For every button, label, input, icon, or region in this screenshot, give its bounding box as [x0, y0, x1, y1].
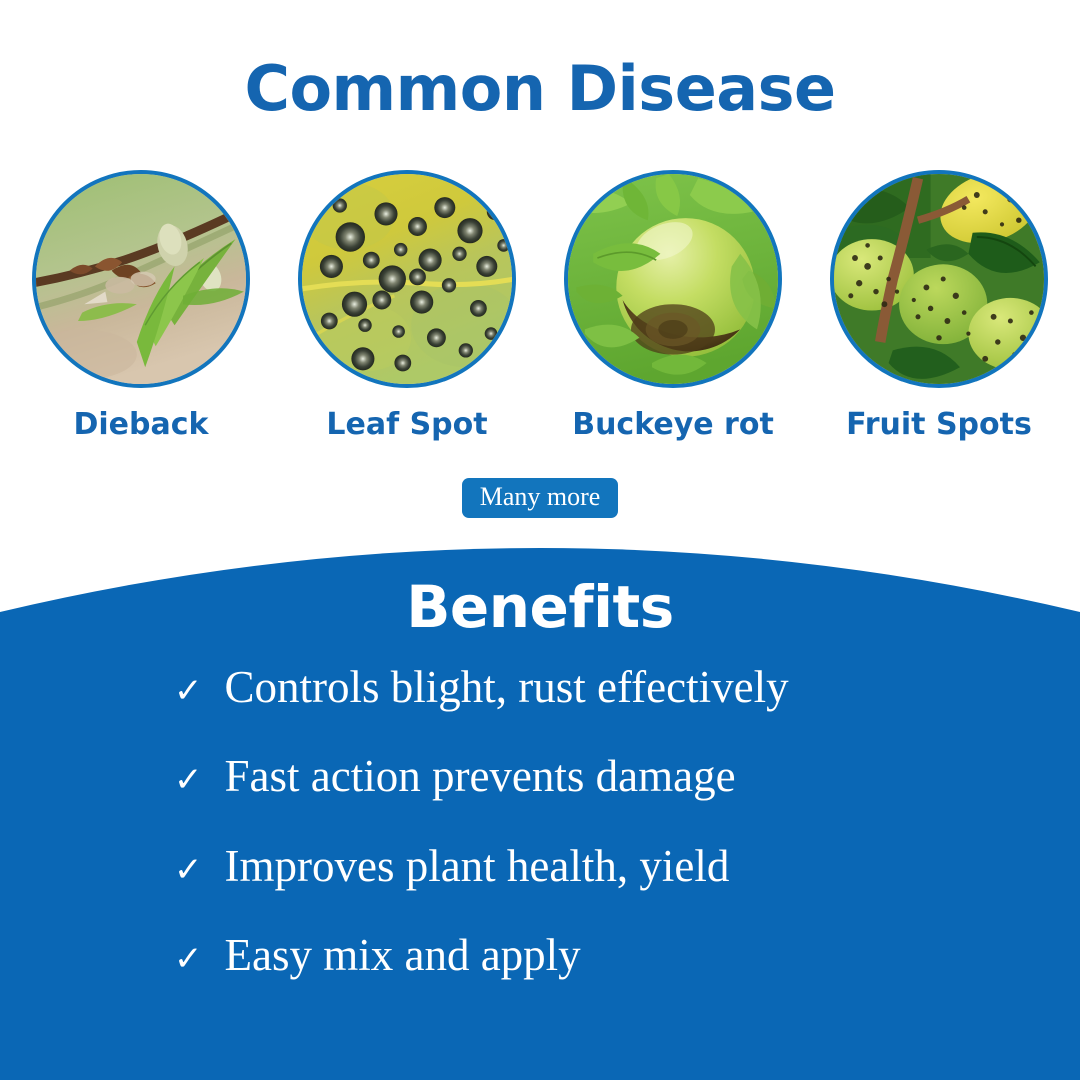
check-icon: ✓ [174, 674, 203, 708]
benefit-text: Fast action prevents damage [225, 751, 736, 801]
page-title: Common Disease [0, 52, 1080, 125]
dieback-image [32, 170, 250, 388]
poster-root: Common Disease [0, 0, 1080, 1080]
disease-label: Buckeye rot [572, 408, 774, 441]
buckeye-rot-image [564, 170, 782, 388]
many-more-container: Many more [0, 478, 1080, 518]
disease-label: Fruit Spots [846, 408, 1032, 441]
check-icon: ✓ [174, 942, 203, 976]
disease-label: Dieback [74, 408, 209, 441]
check-icon: ✓ [174, 853, 203, 887]
fruit-spots-image [830, 170, 1048, 388]
benefit-item: ✓ Fast action prevents damage [160, 751, 920, 801]
benefit-item: ✓ Improves plant health, yield [160, 841, 920, 891]
benefits-list: ✓ Controls blight, rust effectively ✓ Fa… [0, 662, 1080, 981]
disease-card-leaf-spot[interactable]: Leaf Spot [298, 170, 516, 441]
disease-gallery: Dieback [0, 170, 1080, 441]
benefits-panel: Benefits ✓ Controls blight, rust effecti… [0, 520, 1080, 1080]
disease-card-buckeye-rot[interactable]: Buckeye rot [564, 170, 782, 441]
benefits-title: Benefits [0, 573, 1080, 641]
benefit-text: Easy mix and apply [225, 930, 581, 980]
disease-card-fruit-spots[interactable]: Fruit Spots [830, 170, 1048, 441]
many-more-badge[interactable]: Many more [462, 478, 619, 518]
disease-card-dieback[interactable]: Dieback [32, 170, 250, 441]
benefit-text: Improves plant health, yield [225, 841, 730, 891]
benefit-text: Controls blight, rust effectively [225, 662, 789, 712]
benefit-item: ✓ Controls blight, rust effectively [160, 662, 920, 712]
disease-label: Leaf Spot [326, 408, 487, 441]
leaf-spot-image [298, 170, 516, 388]
benefit-item: ✓ Easy mix and apply [160, 930, 920, 980]
check-icon: ✓ [174, 763, 203, 797]
